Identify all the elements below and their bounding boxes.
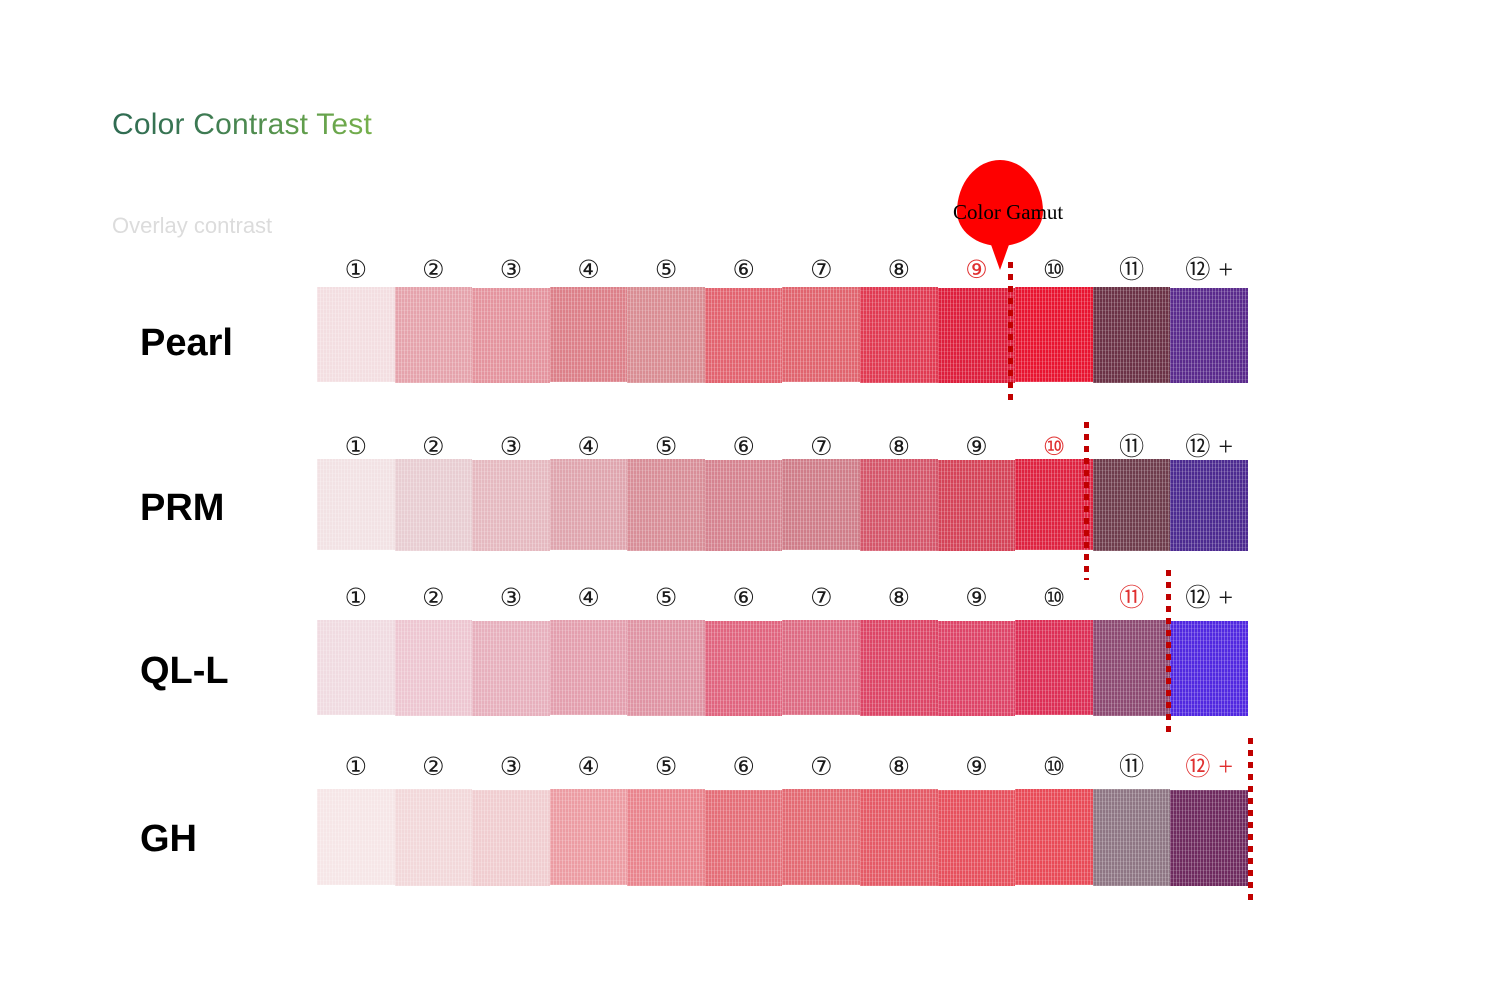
swatch-3[interactable] — [472, 621, 550, 716]
swatch-5[interactable] — [627, 287, 705, 383]
scale-number-11[interactable]: ⑪ — [1119, 432, 1144, 462]
scale-number-label: ⑦ — [810, 432, 832, 461]
scale-number-label: ⑧ — [888, 432, 910, 461]
scale-number-5[interactable]: ⑤ — [655, 583, 677, 613]
scale-plus-sign: + — [1218, 583, 1233, 612]
scale-number-label: ⑩ — [1043, 752, 1065, 781]
scale-number-1[interactable]: ① — [345, 752, 367, 782]
scale-number-label: ⑥ — [732, 255, 754, 284]
scale-number-label: ⑤ — [655, 583, 677, 612]
swatch-1[interactable] — [317, 620, 395, 715]
swatch-12[interactable] — [1170, 621, 1248, 716]
scale-number-label: ⑥ — [732, 583, 754, 612]
swatch-strip-ql-l — [317, 620, 1248, 716]
scale-number-label: ⑪ — [1119, 752, 1144, 781]
scale-number-5[interactable]: ⑤ — [655, 255, 677, 285]
gamut-limit-line-ql-l — [1166, 570, 1171, 732]
scale-number-8[interactable]: ⑧ — [888, 432, 910, 462]
swatch-strip-pearl — [317, 287, 1248, 383]
scale-number-1[interactable]: ① — [345, 583, 367, 613]
swatch-9[interactable] — [938, 460, 1016, 551]
color-gamut-annotation: Color Gamut — [953, 200, 1063, 225]
swatch-1[interactable] — [317, 287, 395, 382]
scale-number-8[interactable]: ⑧ — [888, 255, 910, 285]
row-label-pearl: Pearl — [140, 322, 233, 365]
swatch-8[interactable] — [860, 789, 938, 886]
swatch-10[interactable] — [1015, 620, 1093, 715]
scale-number-12[interactable]: ⑫ + — [1185, 432, 1233, 462]
scale-number-label: ⑨ — [965, 432, 987, 461]
page-title: Color Contrast Test — [112, 108, 372, 142]
scale-number-10[interactable]: ⑩ — [1043, 432, 1065, 462]
scale-number-2[interactable]: ② — [422, 583, 444, 613]
swatch-6[interactable] — [705, 790, 783, 886]
scale-number-3[interactable]: ③ — [500, 752, 522, 782]
gamut-limit-line-prm — [1084, 422, 1089, 580]
scale-number-4[interactable]: ④ — [577, 432, 599, 462]
scale-number-8[interactable]: ⑧ — [888, 583, 910, 613]
scale-number-7[interactable]: ⑦ — [810, 255, 832, 285]
swatch-7[interactable] — [782, 459, 860, 550]
scale-number-2[interactable]: ② — [422, 255, 444, 285]
swatch-10[interactable] — [1015, 459, 1093, 550]
swatch-7[interactable] — [782, 620, 860, 715]
scale-number-11[interactable]: ⑪ — [1119, 752, 1144, 782]
swatch-12[interactable] — [1170, 460, 1248, 551]
swatch-3[interactable] — [472, 288, 550, 383]
swatch-8[interactable] — [860, 459, 938, 551]
swatch-12[interactable] — [1170, 288, 1248, 383]
scale-number-label: ① — [345, 752, 367, 781]
scale-number-label: ③ — [500, 255, 522, 284]
scale-numbers: ①②③④⑤⑥⑦⑧⑨⑩⑪⑫ + — [317, 255, 1248, 287]
swatch-8[interactable] — [860, 287, 938, 383]
scale-number-label: ③ — [500, 583, 522, 612]
scale-numbers: ①②③④⑤⑥⑦⑧⑨⑩⑪⑫ + — [317, 752, 1248, 784]
scale-number-3[interactable]: ③ — [500, 432, 522, 462]
scale-number-1[interactable]: ① — [345, 255, 367, 285]
swatch-1[interactable] — [317, 459, 395, 550]
swatch-4[interactable] — [550, 789, 628, 885]
swatch-4[interactable] — [550, 287, 628, 382]
scale-number-9[interactable]: ⑨ — [965, 432, 987, 462]
scale-number-label: ⑥ — [732, 432, 754, 461]
scale-number-label: ③ — [500, 752, 522, 781]
swatch-11[interactable] — [1093, 620, 1171, 716]
scale-number-label: ⑧ — [888, 583, 910, 612]
scale-number-12[interactable]: ⑫ + — [1185, 255, 1233, 285]
slide-subtitle: Overlay contrast — [112, 213, 272, 239]
scale-number-2[interactable]: ② — [422, 752, 444, 782]
scale-number-8[interactable]: ⑧ — [888, 752, 910, 782]
scale-plus-sign: + — [1218, 432, 1233, 461]
scale-number-3[interactable]: ③ — [500, 583, 522, 613]
scale-number-label: ④ — [577, 583, 599, 612]
scale-number-4[interactable]: ④ — [577, 583, 599, 613]
swatch-9[interactable] — [938, 790, 1016, 886]
scale-number-label: ① — [345, 432, 367, 461]
scale-number-label: ⑦ — [810, 752, 832, 781]
scale-number-label: ⑩ — [1043, 583, 1065, 612]
scale-number-7[interactable]: ⑦ — [810, 752, 832, 782]
scale-number-label: ⑨ — [965, 583, 987, 612]
swatch-2[interactable] — [395, 459, 473, 551]
scale-number-label: ⑩ — [1043, 255, 1065, 284]
scale-number-1[interactable]: ① — [345, 432, 367, 462]
scale-number-label: ⑤ — [655, 432, 677, 461]
scale-number-label: ⑨ — [965, 255, 987, 284]
row-label-gh: GH — [140, 818, 197, 861]
swatch-strip-gh — [317, 789, 1248, 886]
scale-number-label: ④ — [577, 752, 599, 781]
scale-number-2[interactable]: ② — [422, 432, 444, 462]
row-label-prm: PRM — [140, 487, 224, 530]
scale-number-label: ⑥ — [732, 752, 754, 781]
swatch-11[interactable] — [1093, 789, 1171, 886]
swatch-10[interactable] — [1015, 287, 1093, 382]
swatch-9[interactable] — [938, 288, 1016, 383]
swatch-5[interactable] — [627, 789, 705, 886]
scale-number-label: ⑫ — [1185, 255, 1210, 284]
scale-number-label: ⑩ — [1043, 432, 1065, 461]
scale-number-5[interactable]: ⑤ — [655, 432, 677, 462]
scale-number-label: ⑫ — [1185, 432, 1210, 461]
scale-number-label: ④ — [577, 255, 599, 284]
swatch-3[interactable] — [472, 460, 550, 551]
scale-number-6[interactable]: ⑥ — [732, 432, 754, 462]
scale-number-10[interactable]: ⑩ — [1043, 583, 1065, 613]
scale-number-label: ⑪ — [1119, 432, 1144, 461]
swatch-4[interactable] — [550, 459, 628, 550]
scale-number-label: ⑫ — [1185, 583, 1210, 612]
scale-number-10[interactable]: ⑩ — [1043, 255, 1065, 285]
scale-number-label: ⑫ — [1185, 752, 1210, 781]
scale-number-7[interactable]: ⑦ — [810, 583, 832, 613]
swatch-3[interactable] — [472, 790, 550, 886]
scale-number-10[interactable]: ⑩ — [1043, 752, 1065, 782]
scale-number-label: ① — [345, 255, 367, 284]
scale-number-11[interactable]: ⑪ — [1119, 583, 1144, 613]
swatch-7[interactable] — [782, 789, 860, 885]
swatch-4[interactable] — [550, 620, 628, 715]
swatch-6[interactable] — [705, 621, 783, 716]
scale-number-label: ③ — [500, 432, 522, 461]
scale-number-label: ⑤ — [655, 752, 677, 781]
scale-number-label: ⑧ — [888, 255, 910, 284]
scale-number-label: ⑤ — [655, 255, 677, 284]
scale-number-label: ② — [422, 255, 444, 284]
swatch-6[interactable] — [705, 288, 783, 383]
swatch-7[interactable] — [782, 287, 860, 382]
scale-number-label: ② — [422, 583, 444, 612]
scale-number-label: ⑪ — [1119, 583, 1144, 612]
scale-number-6[interactable]: ⑥ — [732, 583, 754, 613]
swatch-10[interactable] — [1015, 789, 1093, 885]
swatch-5[interactable] — [627, 620, 705, 716]
swatch-2[interactable] — [395, 287, 473, 383]
scale-number-4[interactable]: ④ — [577, 255, 599, 285]
scale-number-label: ⑪ — [1119, 255, 1144, 284]
scale-number-9[interactable]: ⑨ — [965, 752, 987, 782]
swatch-11[interactable] — [1093, 459, 1171, 551]
swatch-9[interactable] — [938, 621, 1016, 716]
swatch-1[interactable] — [317, 789, 395, 885]
scale-plus-sign: + — [1218, 255, 1233, 284]
scale-number-label: ⑧ — [888, 752, 910, 781]
scale-number-label: ② — [422, 752, 444, 781]
scale-number-11[interactable]: ⑪ — [1119, 255, 1144, 285]
scale-number-6[interactable]: ⑥ — [732, 255, 754, 285]
scale-number-7[interactable]: ⑦ — [810, 432, 832, 462]
scale-number-3[interactable]: ③ — [500, 255, 522, 285]
scale-number-4[interactable]: ④ — [577, 752, 599, 782]
scale-number-label: ⑨ — [965, 752, 987, 781]
swatch-strip-prm — [317, 459, 1248, 551]
scale-number-label: ④ — [577, 432, 599, 461]
scale-number-9[interactable]: ⑨ — [965, 583, 987, 613]
swatch-2[interactable] — [395, 789, 473, 886]
swatch-8[interactable] — [860, 620, 938, 716]
scale-number-label: ① — [345, 583, 367, 612]
swatch-2[interactable] — [395, 620, 473, 716]
scale-plus-sign: + — [1218, 752, 1233, 781]
scale-number-12[interactable]: ⑫ + — [1185, 583, 1233, 613]
swatch-6[interactable] — [705, 460, 783, 551]
scale-numbers: ①②③④⑤⑥⑦⑧⑨⑩⑪⑫ + — [317, 583, 1248, 615]
gamut-limit-line-pearl — [1008, 262, 1013, 404]
scale-number-5[interactable]: ⑤ — [655, 752, 677, 782]
scale-number-label: ⑦ — [810, 583, 832, 612]
swatch-12[interactable] — [1170, 790, 1248, 886]
swatch-11[interactable] — [1093, 287, 1171, 383]
scale-number-label: ② — [422, 432, 444, 461]
scale-number-6[interactable]: ⑥ — [732, 752, 754, 782]
scale-number-9[interactable]: ⑨ — [965, 255, 987, 285]
swatch-5[interactable] — [627, 459, 705, 551]
scale-number-label: ⑦ — [810, 255, 832, 284]
scale-number-12[interactable]: ⑫ + — [1185, 752, 1233, 782]
gamut-limit-line-gh — [1248, 738, 1253, 903]
row-label-ql-l: QL-L — [140, 650, 229, 693]
